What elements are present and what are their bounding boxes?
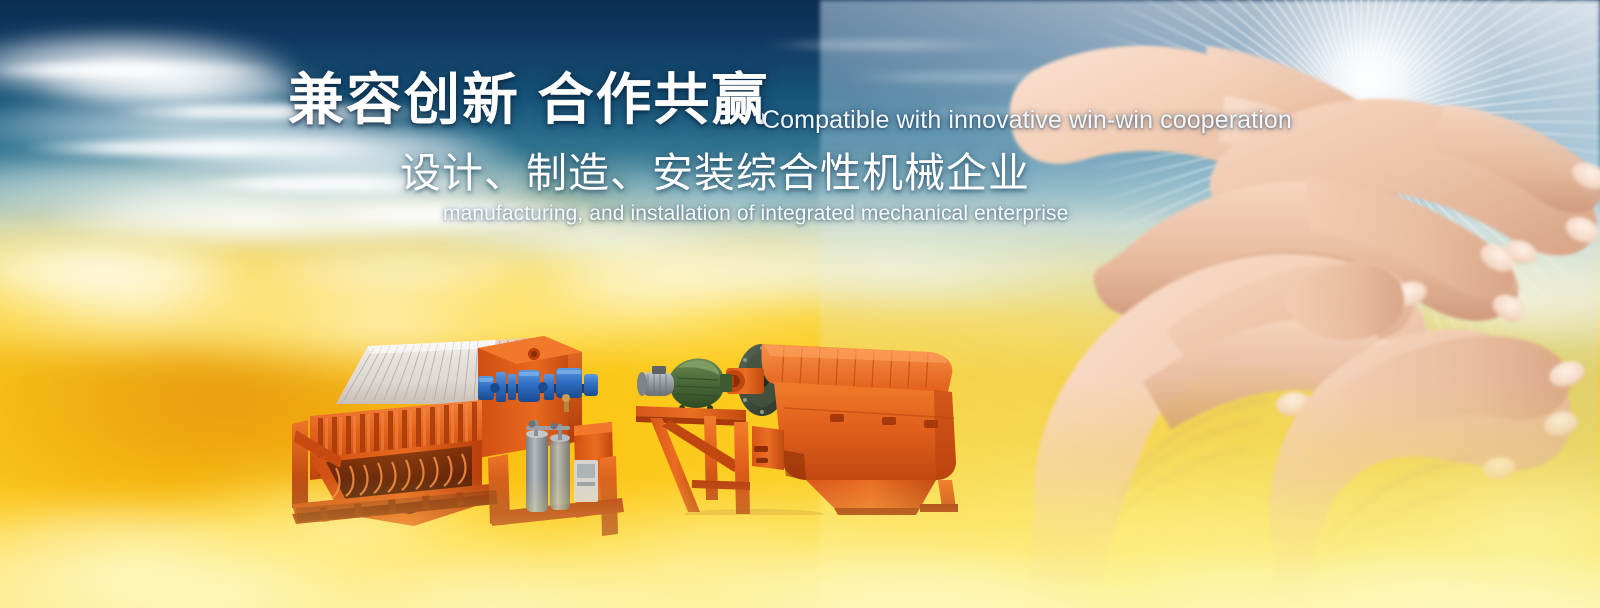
subheadline-chinese: 设计、制造、安装综合性机械企业 [400, 153, 1030, 194]
subheadline-english: manufacturing, and installation of integ… [443, 202, 1068, 226]
hero-banner: 兼容创新 合作共赢 Compatible with innovative win… [0, 0, 1600, 608]
headline-english: Compatible with innovative win-win coope… [762, 106, 1292, 135]
banner-text-block: 兼容创新 合作共赢 Compatible with innovative win… [0, 0, 1600, 608]
headline-chinese: 兼容创新 合作共赢 [288, 72, 770, 128]
